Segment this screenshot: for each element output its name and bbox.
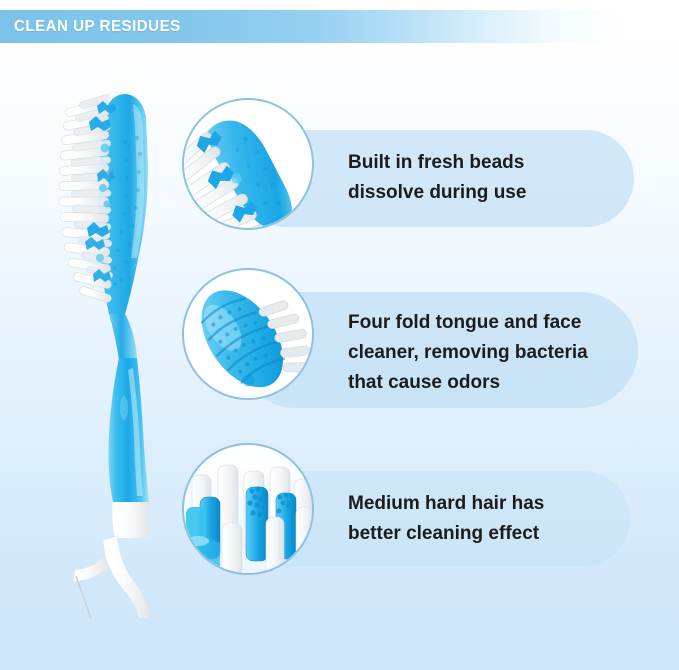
feature-line: Built in fresh beads bbox=[348, 148, 526, 178]
floss-pick-collar bbox=[112, 502, 150, 538]
product-image bbox=[45, 78, 180, 618]
brush-neck bbox=[109, 314, 137, 360]
floss-pick bbox=[73, 502, 151, 618]
feature-line: dissolve during use bbox=[348, 178, 526, 208]
floss-pick-prong bbox=[73, 556, 109, 582]
toothbrush-illustration bbox=[45, 78, 180, 618]
feature-line: Four fold tongue and face bbox=[348, 308, 588, 338]
feature-image-circle-medium-hard-hair[interactable] bbox=[182, 443, 314, 575]
feature-text-fresh-beads: Built in fresh beads dissolve during use bbox=[348, 148, 526, 208]
feature-text-tongue-cleaner: Four fold tongue and face cleaner, remov… bbox=[348, 308, 588, 398]
bristle-macro-photo bbox=[184, 445, 312, 573]
feature-line: Medium hard hair has bbox=[348, 489, 544, 519]
brush-handle bbox=[109, 358, 150, 502]
tongue-cleaner-closeup-photo bbox=[184, 270, 312, 398]
floss-pick-arm bbox=[103, 536, 151, 618]
brush-head-closeup-photo bbox=[184, 100, 312, 228]
feature-image-circle-fresh-beads[interactable] bbox=[182, 98, 314, 230]
product-feature-infographic: CLEAN UP RESIDUES bbox=[0, 0, 679, 670]
floss-strand bbox=[76, 576, 113, 618]
feature-image-circle-tongue-cleaner[interactable] bbox=[182, 268, 314, 400]
feature-text-medium-hard-hair: Medium hard hair has better cleaning eff… bbox=[348, 489, 544, 549]
feature-line: better cleaning effect bbox=[348, 519, 544, 549]
page-title: CLEAN UP RESIDUES bbox=[14, 14, 181, 39]
handle-grip-detail bbox=[120, 396, 128, 420]
feature-line: cleaner, removing bacteria bbox=[348, 338, 588, 368]
feature-line: that cause odors bbox=[348, 368, 588, 398]
